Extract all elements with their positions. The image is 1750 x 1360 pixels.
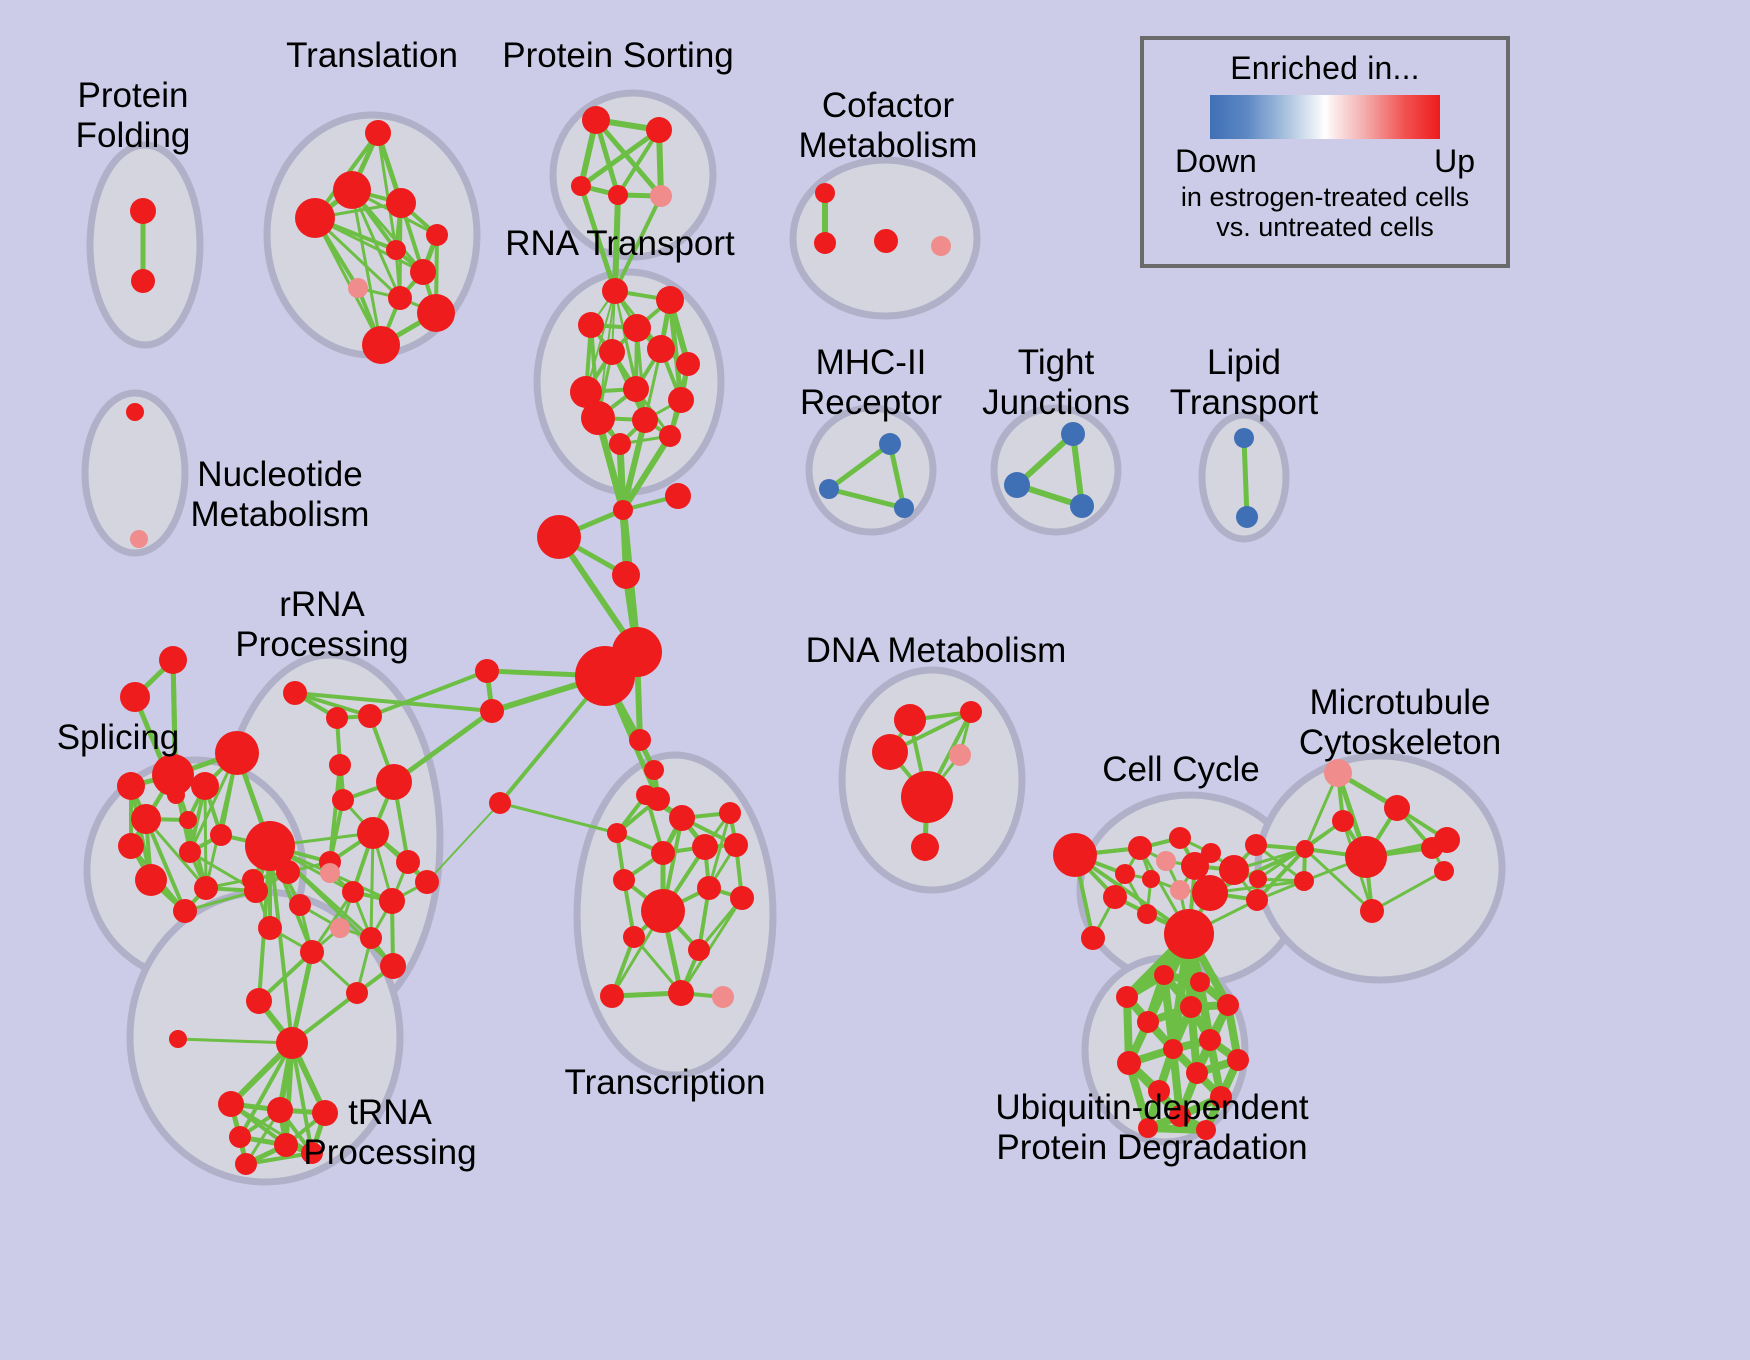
gene-set-node-transcription-1[interactable] — [669, 805, 695, 831]
gene-set-node-rna-transport-11[interactable] — [632, 407, 658, 433]
legend-subtitle-line-1: in estrogen-treated cells — [1181, 182, 1469, 212]
gene-set-node-protein-sorting-0[interactable] — [582, 106, 610, 134]
gene-set-node-microtubule-cytoskeleton-0[interactable] — [1324, 759, 1352, 787]
gene-set-node-transcription-11[interactable] — [623, 926, 645, 948]
gene-set-node-cell-cycle-9[interactable] — [1142, 870, 1160, 888]
gene-set-node-transcription-3[interactable] — [607, 823, 627, 843]
gene-set-node-bridge-b2[interactable] — [537, 515, 581, 559]
gene-set-node-tight-junctions-1[interactable] — [1004, 472, 1030, 498]
cluster-label-splicing: Splicing — [57, 718, 180, 757]
gene-set-node-trna-processing-1[interactable] — [169, 1030, 187, 1048]
gene-set-node-microtubule-cytoskeleton-7[interactable] — [1360, 899, 1384, 923]
gene-set-node-translation-2[interactable] — [386, 188, 416, 218]
gene-set-node-dna-metabolism-1[interactable] — [960, 701, 982, 723]
gene-set-node-splicing-11[interactable] — [210, 824, 232, 846]
gene-set-node-rrna-processing-19[interactable] — [258, 916, 282, 940]
legend-down-label: Down — [1175, 143, 1257, 180]
gene-set-node-microtubule-cytoskeleton-2[interactable] — [1332, 810, 1354, 832]
gene-set-node-splicing-15[interactable] — [244, 879, 268, 903]
gene-set-node-dna-metabolism-5[interactable] — [911, 833, 939, 861]
gene-set-node-cell-cycle-5[interactable] — [1156, 851, 1176, 871]
gene-set-node-splicing-12[interactable] — [135, 864, 167, 896]
gene-set-node-splicing-9[interactable] — [118, 833, 144, 859]
gene-set-node-trna-processing-4[interactable] — [312, 1100, 338, 1126]
gene-set-node-cell-cycle-12[interactable] — [1170, 880, 1190, 900]
gene-set-node-transcription-4[interactable] — [651, 841, 675, 865]
gene-set-node-bridge-b6[interactable] — [475, 659, 499, 683]
gene-set-node-rrna-processing-17[interactable] — [360, 927, 382, 949]
gene-set-node-tight-junctions-2[interactable] — [1070, 494, 1094, 518]
gene-set-node-translation-1[interactable] — [333, 171, 371, 209]
legend-subtitle: in estrogen-treated cells vs. untreated … — [1181, 182, 1469, 242]
cluster-label-mhc-ii-receptor: MHC-IIReceptor — [800, 343, 942, 422]
gene-set-node-cell-cycle-16[interactable] — [1137, 904, 1157, 924]
gene-set-node-ubiquitin-dependent-protein-degradation-2[interactable] — [1116, 986, 1138, 1008]
cluster-label-rrna-processing: rRNAProcessing — [235, 585, 408, 664]
gene-set-node-microtubule-cytoskeleton-8[interactable] — [1434, 827, 1460, 853]
gene-set-node-rrna-processing-22[interactable] — [346, 982, 368, 1004]
legend-color-gradient-bar — [1210, 95, 1440, 139]
legend-subtitle-line-2: vs. untreated cells — [1181, 212, 1469, 242]
gene-set-node-rrna-processing-21[interactable] — [380, 953, 406, 979]
gene-set-node-lipid-transport-0[interactable] — [1234, 428, 1254, 448]
gene-set-node-cell-cycle-13[interactable] — [1192, 875, 1228, 911]
cluster-label-microtubule-cytoskeleton: MicrotubuleCytoskeleton — [1299, 683, 1501, 762]
gene-set-node-rna-transport-6[interactable] — [676, 352, 700, 376]
gene-set-node-transcription-15[interactable] — [712, 986, 734, 1008]
gene-set-node-ubiquitin-dependent-protein-degradation-0[interactable] — [1154, 965, 1174, 985]
gene-set-node-transcription-2[interactable] — [719, 802, 741, 824]
gene-set-node-rna-transport-9[interactable] — [668, 387, 694, 413]
gene-set-node-rna-transport-13[interactable] — [609, 433, 631, 455]
gene-set-node-rna-transport-0[interactable] — [602, 278, 628, 304]
gene-set-node-translation-4[interactable] — [426, 224, 448, 246]
gene-set-node-bridge-b10[interactable] — [644, 760, 664, 780]
legend-up-label: Up — [1434, 143, 1475, 180]
gene-set-node-rrna-processing-4[interactable] — [329, 754, 351, 776]
cluster-label-tight-junctions: TightJunctions — [982, 343, 1130, 422]
gene-set-node-translation-5[interactable] — [386, 240, 406, 260]
gene-set-node-bridge-b9[interactable] — [629, 729, 651, 751]
gene-set-node-bridge-b0[interactable] — [613, 500, 633, 520]
gene-set-node-cell-cycle-3[interactable] — [1245, 834, 1267, 856]
gene-set-node-trna-processing-6[interactable] — [274, 1133, 298, 1157]
gene-set-node-transcription-12[interactable] — [688, 939, 710, 961]
gene-set-node-cofactor-metabolism-2[interactable] — [874, 229, 898, 253]
gene-set-node-translation-7[interactable] — [348, 278, 368, 298]
cluster-label-ubiquitin-dependent-protein-degradation: Ubiquitin-dependentProtein Degradation — [995, 1088, 1309, 1167]
gene-set-node-translation-9[interactable] — [417, 294, 455, 332]
gene-set-node-splicing-13[interactable] — [194, 876, 218, 900]
cluster-label-cofactor-metabolism: CofactorMetabolism — [799, 86, 978, 165]
gene-set-node-translation-10[interactable] — [362, 326, 400, 364]
gene-set-node-cell-cycle-11[interactable] — [1294, 871, 1314, 891]
gene-set-node-rrna-processing-14[interactable] — [415, 870, 439, 894]
gene-set-node-cofactor-metabolism-0[interactable] — [815, 183, 835, 203]
gene-set-node-bridge-b1[interactable] — [665, 483, 691, 509]
cluster-label-lipid-transport: LipidTransport — [1170, 343, 1319, 422]
network-figure: ProteinFoldingTranslationProtein Sorting… — [0, 0, 1750, 1360]
gene-set-node-trna-processing-2[interactable] — [218, 1091, 244, 1117]
gene-set-node-cell-cycle-18[interactable] — [1081, 926, 1105, 950]
gene-set-node-mhc-ii-receptor-1[interactable] — [819, 479, 839, 499]
gene-set-node-cell-cycle-15[interactable] — [1246, 889, 1268, 911]
gene-set-node-transcription-14[interactable] — [668, 980, 694, 1006]
gene-set-node-transcription-8[interactable] — [641, 889, 685, 933]
gene-set-node-translation-3[interactable] — [295, 198, 335, 238]
gene-set-node-cell-cycle-14[interactable] — [1103, 885, 1127, 909]
legend-title: Enriched in... — [1230, 50, 1420, 87]
cluster-label-transcription: Transcription — [565, 1063, 766, 1102]
gene-set-node-nucleotide-metabolism-0[interactable] — [126, 403, 144, 421]
gene-set-node-splicing-0[interactable] — [159, 646, 187, 674]
gene-set-node-protein-sorting-4[interactable] — [650, 185, 672, 207]
gene-set-node-rna-transport-3[interactable] — [623, 314, 651, 342]
gene-set-node-splicing-14[interactable] — [173, 899, 197, 923]
gene-set-node-splicing-4[interactable] — [152, 754, 194, 796]
gene-set-node-rrna-processing-18[interactable] — [300, 940, 324, 964]
gene-set-node-microtubule-cytoskeleton-6[interactable] — [1434, 861, 1454, 881]
edge-splicing — [205, 786, 206, 888]
gene-set-node-rrna-processing-16[interactable] — [330, 918, 350, 938]
gene-set-node-trna-processing-8[interactable] — [235, 1153, 257, 1175]
gene-set-node-ubiquitin-dependent-protein-degradation-6[interactable] — [1163, 1039, 1183, 1059]
gene-set-node-rna-transport-5[interactable] — [647, 335, 675, 363]
cluster-label-rna-transport: RNA Transport — [505, 224, 735, 263]
gene-set-node-transcription-13[interactable] — [600, 984, 624, 1008]
gene-set-node-splicing-10[interactable] — [179, 841, 201, 863]
gene-set-node-rrna-processing-15[interactable] — [289, 894, 311, 916]
gene-set-node-rrna-processing-23[interactable] — [246, 988, 272, 1014]
gene-set-node-cofactor-metabolism-3[interactable] — [931, 236, 951, 256]
cluster-label-protein-sorting: Protein Sorting — [502, 36, 734, 75]
gene-set-node-rna-transport-10[interactable] — [581, 401, 615, 435]
gene-set-node-rrna-processing-11[interactable] — [320, 863, 340, 883]
gene-set-node-splicing-1[interactable] — [120, 682, 150, 712]
gene-set-node-dna-metabolism-2[interactable] — [949, 744, 971, 766]
gene-set-node-splicing-2[interactable] — [215, 731, 259, 775]
gene-set-node-trna-processing-3[interactable] — [267, 1097, 293, 1123]
gene-set-node-translation-6[interactable] — [410, 259, 436, 285]
cluster-label-dna-metabolism: DNA Metabolism — [806, 631, 1067, 670]
gene-set-node-microtubule-cytoskeleton-1[interactable] — [1384, 795, 1410, 821]
gene-set-node-bridge-b3[interactable] — [612, 561, 640, 589]
gene-set-node-cell-cycle-7[interactable] — [1219, 855, 1249, 885]
cluster-label-translation: Translation — [286, 36, 458, 75]
gene-set-node-mhc-ii-receptor-2[interactable] — [894, 498, 914, 518]
gene-set-node-rrna-processing-1[interactable] — [358, 704, 382, 728]
legend-endpoints: Down Up — [1175, 143, 1475, 180]
gene-set-node-dna-metabolism-3[interactable] — [872, 734, 908, 770]
gene-set-node-ubiquitin-dependent-protein-degradation-3[interactable] — [1137, 1011, 1159, 1033]
cluster-hull-tight-junctions[interactable] — [994, 408, 1118, 532]
gene-set-node-rrna-processing-5[interactable] — [332, 789, 354, 811]
gene-set-node-dna-metabolism-4[interactable] — [901, 771, 953, 823]
gene-set-node-cofactor-metabolism-1[interactable] — [814, 232, 836, 254]
gene-set-node-splicing-5[interactable] — [117, 772, 145, 800]
gene-set-node-rrna-processing-0[interactable] — [283, 681, 307, 705]
edge-lipid-transport — [1244, 438, 1247, 517]
gene-set-node-protein-folding-1[interactable] — [131, 269, 155, 293]
gene-set-node-translation-8[interactable] — [388, 286, 412, 310]
gene-set-node-ubiquitin-dependent-protein-degradation-9[interactable] — [1186, 1062, 1208, 1084]
gene-set-node-protein-sorting-3[interactable] — [608, 185, 628, 205]
gene-set-node-rrna-processing-8[interactable] — [357, 817, 389, 849]
gene-set-node-nucleotide-metabolism-1[interactable] — [130, 530, 148, 548]
gene-set-node-mhc-ii-receptor-0[interactable] — [879, 433, 901, 455]
gene-set-node-splicing-6[interactable] — [191, 772, 219, 800]
gene-set-node-rna-transport-1[interactable] — [656, 286, 684, 314]
gene-set-node-ubiquitin-dependent-protein-degradation-10[interactable] — [1227, 1049, 1249, 1071]
gene-set-node-bridge-b5[interactable] — [575, 646, 635, 706]
gene-set-node-bridge-b11[interactable] — [646, 787, 670, 811]
gene-set-node-protein-sorting-2[interactable] — [571, 176, 591, 196]
gene-set-node-cell-cycle-8[interactable] — [1115, 864, 1135, 884]
gene-set-node-ubiquitin-dependent-protein-degradation-7[interactable] — [1199, 1029, 1221, 1051]
gene-set-node-rrna-processing-9[interactable] — [396, 850, 420, 874]
cluster-label-cell-cycle: Cell Cycle — [1102, 750, 1260, 789]
gene-set-node-cell-cycle-10[interactable] — [1249, 870, 1267, 888]
gene-set-node-transcription-10[interactable] — [730, 886, 754, 910]
gene-set-node-transcription-6[interactable] — [724, 833, 748, 857]
gene-set-node-ubiquitin-dependent-protein-degradation-8[interactable] — [1117, 1051, 1141, 1075]
gene-set-node-rrna-processing-3[interactable] — [376, 764, 412, 800]
gene-set-node-splicing-8[interactable] — [179, 811, 197, 829]
gene-set-node-rna-transport-8[interactable] — [623, 376, 649, 402]
gene-set-node-translation-0[interactable] — [365, 120, 391, 146]
cluster-label-protein-folding: ProteinFolding — [76, 76, 191, 155]
gene-set-node-protein-sorting-1[interactable] — [646, 117, 672, 143]
cluster-label-nucleotide-metabolism: NucleotideMetabolism — [191, 455, 370, 534]
gene-set-node-ubiquitin-dependent-protein-degradation-5[interactable] — [1217, 994, 1239, 1016]
gene-set-node-bridge-b7[interactable] — [480, 699, 504, 723]
gene-set-node-transcription-9[interactable] — [697, 876, 721, 900]
gene-set-node-rrna-processing-2[interactable] — [326, 707, 348, 729]
gene-set-node-rna-transport-12[interactable] — [659, 425, 681, 447]
legend-box: Enriched in... Down Up in estrogen-treat… — [1140, 36, 1510, 268]
gene-set-node-cell-cycle-1[interactable] — [1128, 836, 1152, 860]
cluster-hull-mhc-ii-receptor[interactable] — [809, 408, 933, 532]
gene-set-node-transcription-5[interactable] — [692, 834, 718, 860]
gene-set-node-transcription-7[interactable] — [613, 869, 635, 891]
gene-set-node-splicing-7[interactable] — [131, 804, 161, 834]
gene-set-node-ubiquitin-dependent-protein-degradation-4[interactable] — [1180, 996, 1202, 1018]
gene-set-node-ubiquitin-dependent-protein-degradation-1[interactable] — [1190, 972, 1210, 992]
gene-set-node-dna-metabolism-0[interactable] — [894, 704, 926, 736]
gene-set-node-trna-processing-0[interactable] — [276, 1027, 308, 1059]
gene-set-node-rna-transport-4[interactable] — [599, 339, 625, 365]
gene-set-node-trna-processing-5[interactable] — [229, 1126, 251, 1148]
gene-set-node-protein-folding-0[interactable] — [130, 198, 156, 224]
gene-set-node-rrna-processing-10[interactable] — [245, 821, 295, 871]
gene-set-node-tight-junctions-0[interactable] — [1061, 422, 1085, 446]
gene-set-node-microtubule-cytoskeleton-5[interactable] — [1296, 840, 1314, 858]
gene-set-node-rna-transport-2[interactable] — [578, 312, 604, 338]
gene-set-node-cell-cycle-2[interactable] — [1053, 833, 1097, 877]
gene-set-node-lipid-transport-1[interactable] — [1236, 506, 1258, 528]
gene-set-node-cell-cycle-17[interactable] — [1164, 909, 1214, 959]
gene-set-node-cell-cycle-0[interactable] — [1169, 827, 1191, 849]
gene-set-node-microtubule-cytoskeleton-3[interactable] — [1345, 836, 1387, 878]
gene-set-node-bridge-b8[interactable] — [489, 792, 511, 814]
gene-set-node-rrna-processing-12[interactable] — [342, 881, 364, 903]
gene-set-node-rrna-processing-13[interactable] — [379, 888, 405, 914]
